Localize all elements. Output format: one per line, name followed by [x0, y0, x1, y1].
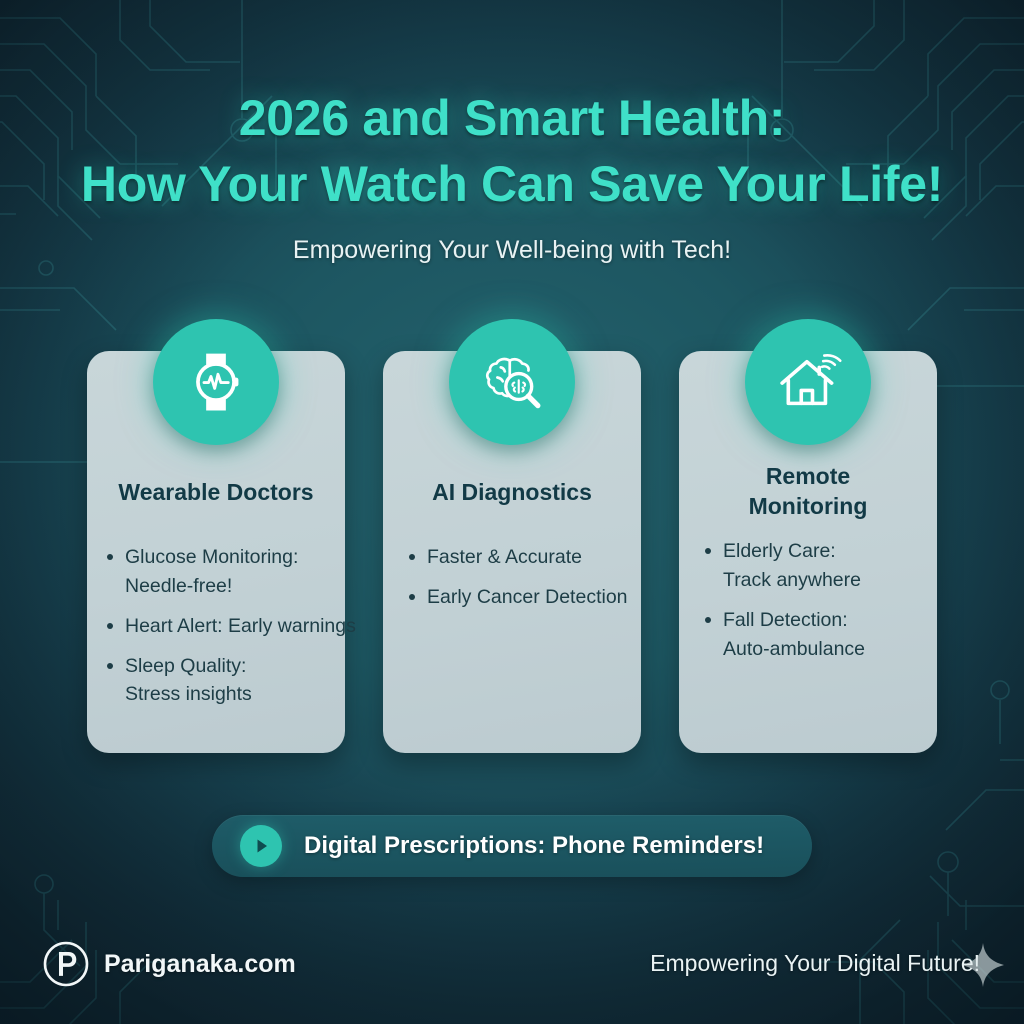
infographic-canvas: 2026 and Smart Health: How Your Watch Ca…	[0, 0, 1024, 1024]
list-item: Early Cancer Detection	[405, 583, 673, 612]
list-item: Sleep Quality: Stress insights	[103, 652, 371, 710]
cta-label: Digital Prescriptions: Phone Reminders!	[304, 832, 764, 860]
list-item: Glucose Monitoring: Needle-free!	[103, 543, 371, 601]
page-subtitle: Empowering Your Well-being with Tech!	[0, 236, 1024, 265]
house-wifi-icon	[745, 319, 871, 445]
feature-card-remote-monitoring[interactable]: Remote Monitoring Elderly Care: Track an…	[679, 351, 937, 753]
cta-banner[interactable]: Digital Prescriptions: Phone Reminders!	[212, 815, 812, 877]
list-item: Heart Alert: Early warnings	[103, 612, 371, 641]
footer-tagline: Empowering Your Digital Future!	[650, 950, 980, 977]
play-circle-icon[interactable]	[240, 825, 282, 867]
card-title: AI Diagnostics	[383, 477, 641, 507]
list-item: Fall Detection: Auto-ambulance	[701, 606, 969, 664]
brand-footer[interactable]: Pariganaka.com	[42, 940, 296, 988]
smartwatch-heartbeat-icon	[153, 319, 279, 445]
card-bullet-list: Glucose Monitoring: Needle-free! Heart A…	[103, 543, 371, 720]
list-item: Faster & Accurate	[405, 543, 673, 572]
four-point-star-icon	[960, 942, 1006, 988]
card-bullet-list: Elderly Care: Track anywhere Fall Detect…	[701, 537, 969, 674]
pariganaka-p-logo-icon	[42, 940, 90, 988]
page-title-line-2: How Your Watch Can Save Your Life!	[0, 158, 1024, 210]
feature-card-ai-diagnostics[interactable]: AI Diagnostics Faster & Accurate Early C…	[383, 351, 641, 753]
card-title: Remote Monitoring	[679, 461, 937, 522]
header: 2026 and Smart Health: How Your Watch Ca…	[0, 92, 1024, 265]
feature-card-wearable-doctors[interactable]: Wearable Doctors Glucose Monitoring: Nee…	[87, 351, 345, 753]
brand-name: Pariganaka.com	[104, 950, 296, 979]
list-item: Elderly Care: Track anywhere	[701, 537, 969, 595]
feature-cards-row: Wearable Doctors Glucose Monitoring: Nee…	[87, 351, 937, 753]
page-title-line-1: 2026 and Smart Health:	[0, 92, 1024, 144]
card-title: Wearable Doctors	[87, 477, 345, 507]
brain-magnifier-icon	[449, 319, 575, 445]
card-bullet-list: Faster & Accurate Early Cancer Detection	[405, 543, 673, 623]
